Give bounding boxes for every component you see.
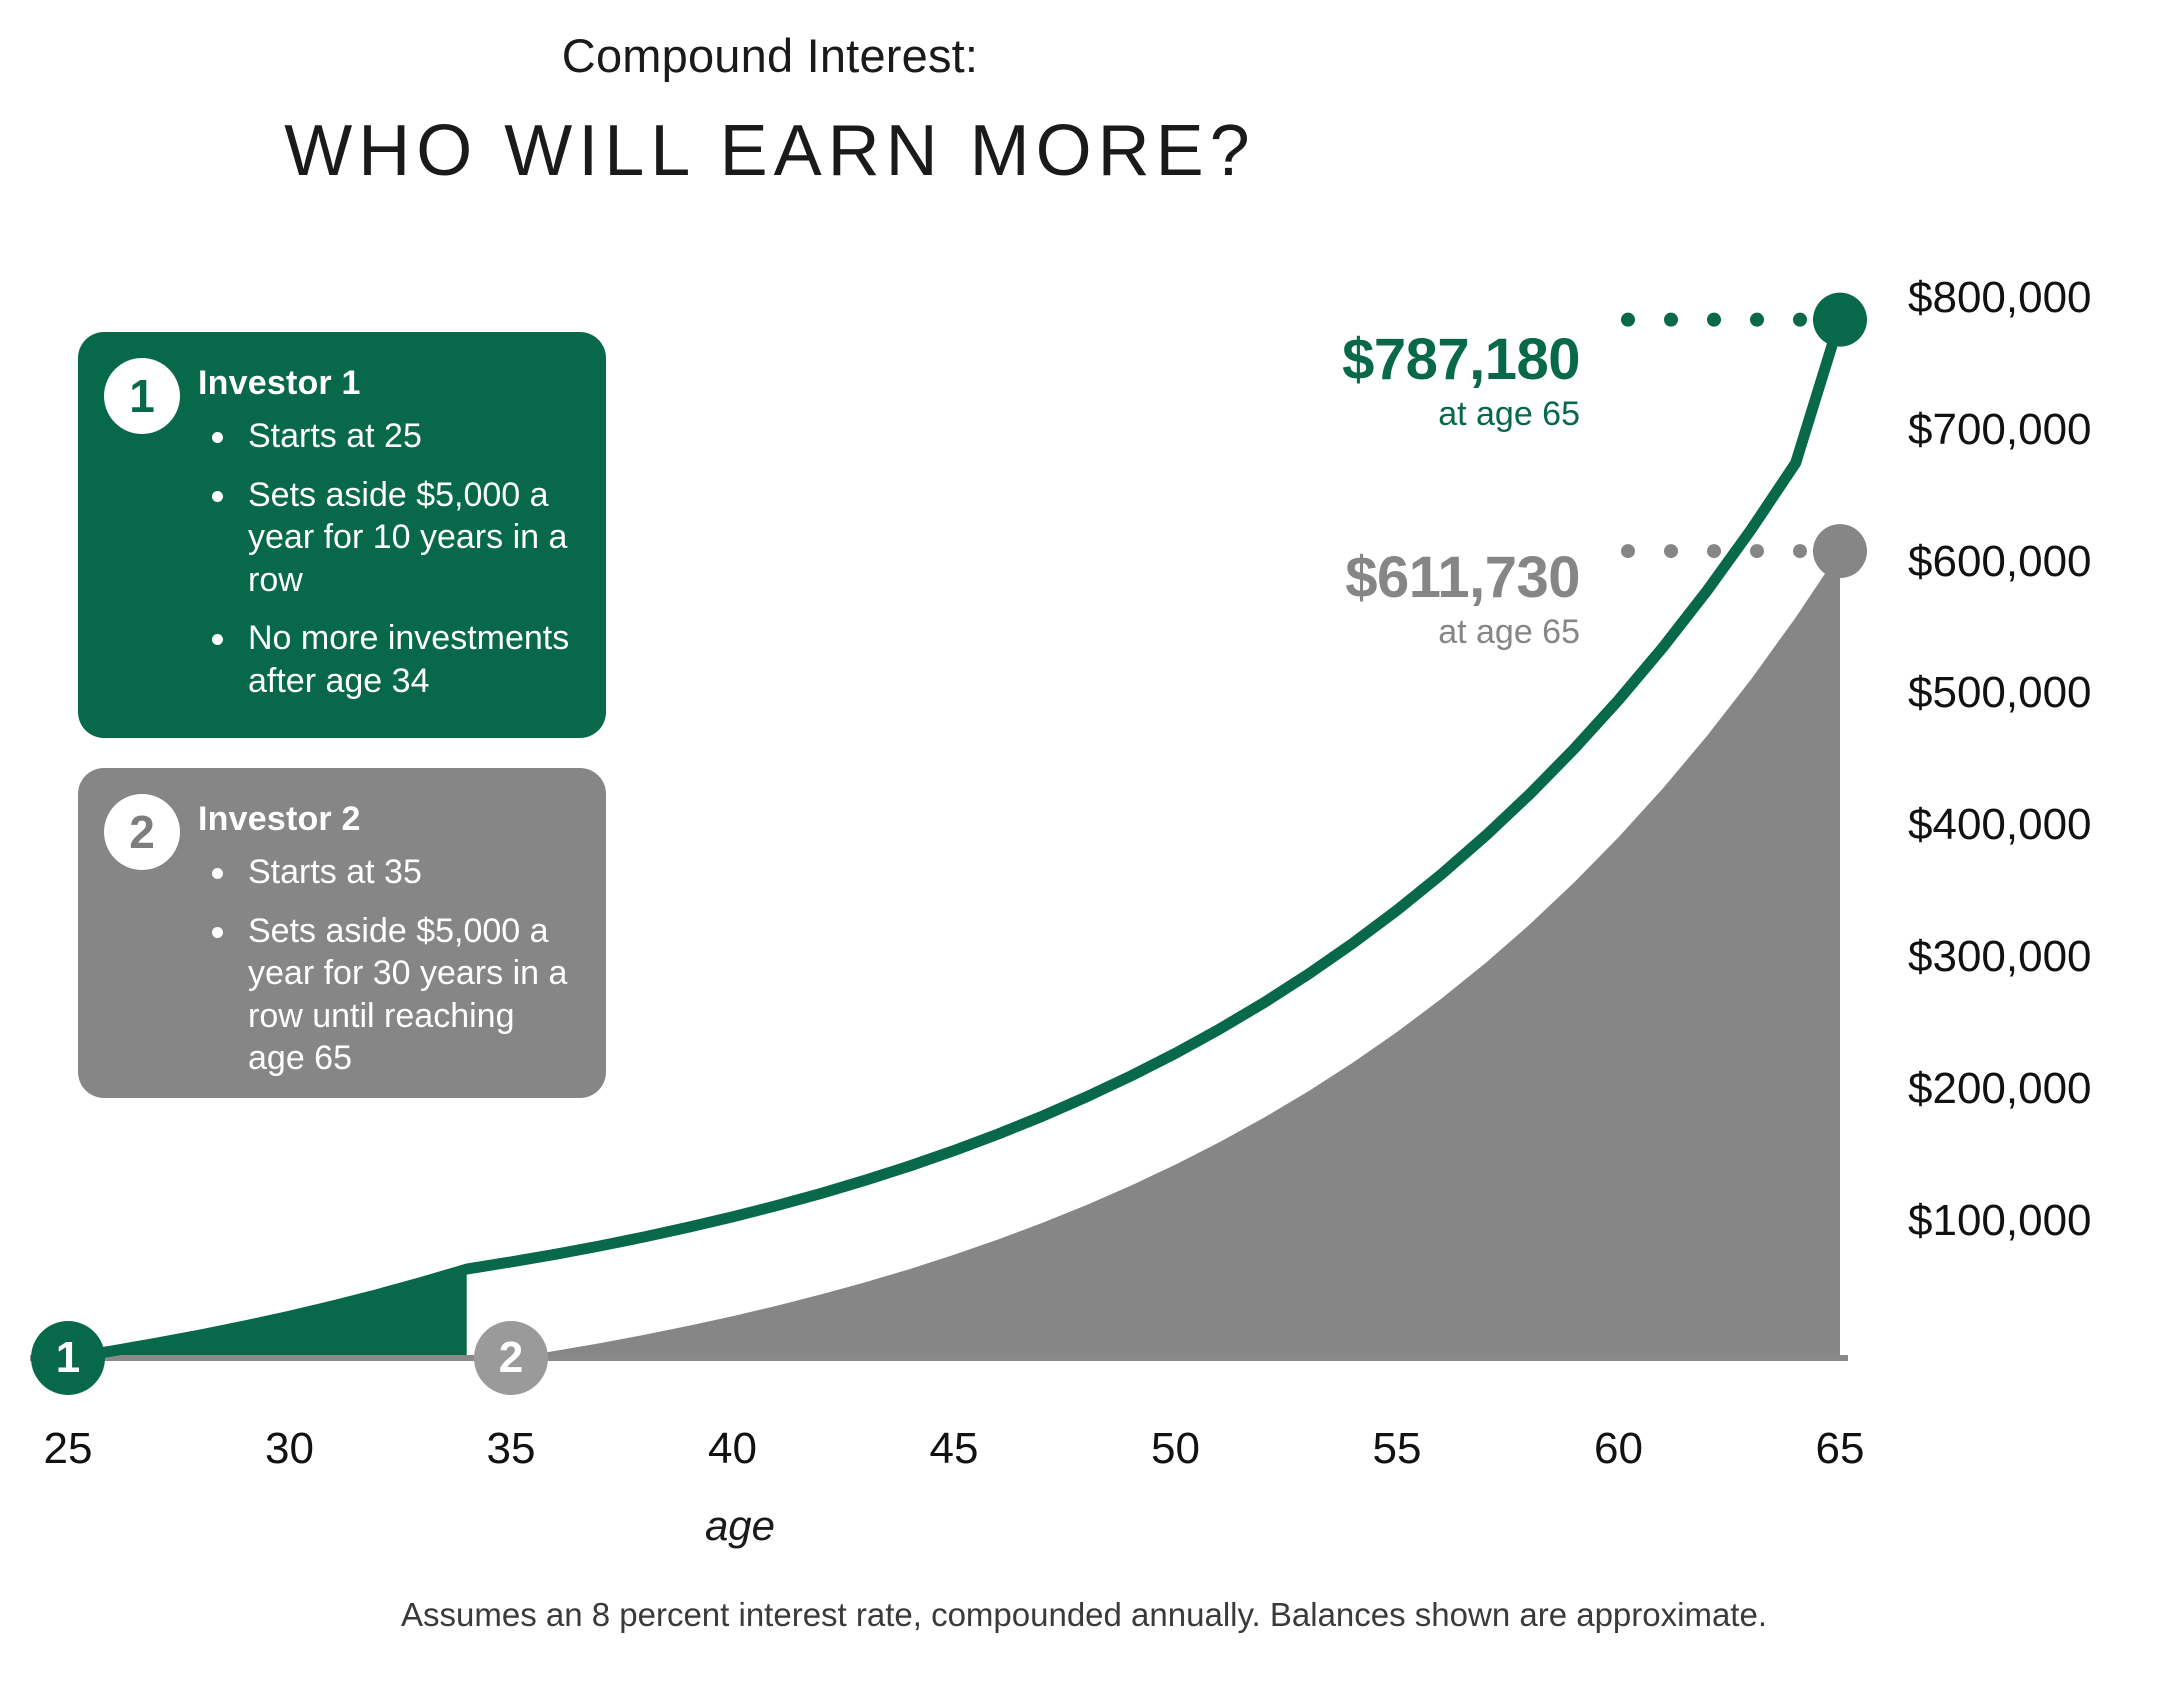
footnote: Assumes an 8 percent interest rate, comp… bbox=[0, 1596, 2168, 1634]
y-axis-tick-label: $600,000 bbox=[1908, 537, 2092, 587]
series-area-investor-2 bbox=[68, 551, 1840, 1358]
y-axis-tick-label: $700,000 bbox=[1908, 405, 2092, 455]
callout-amount: $787,180 bbox=[1180, 330, 1580, 391]
leader-dot-investor-1 bbox=[1664, 313, 1678, 327]
chart-area bbox=[0, 190, 2168, 1440]
y-axis-tick-label: $400,000 bbox=[1908, 800, 2092, 850]
series-marker-investor-1: 1 bbox=[31, 1321, 105, 1395]
leader-dot-investor-1 bbox=[1707, 313, 1721, 327]
leader-dot-investor-1 bbox=[1750, 313, 1764, 327]
y-axis-tick-label: $500,000 bbox=[1908, 668, 2092, 718]
callout-subtext: at age 65 bbox=[1180, 397, 1580, 433]
leader-dot-investor-1 bbox=[1793, 313, 1807, 327]
page-title: WHO WILL EARN MORE? bbox=[0, 110, 1540, 192]
x-axis-tick-label: 35 bbox=[451, 1424, 571, 1474]
x-axis-tick-label: 40 bbox=[673, 1424, 793, 1474]
leader-dot-investor-2 bbox=[1707, 544, 1721, 558]
x-axis-tick-label: 25 bbox=[8, 1424, 128, 1474]
leader-dot-investor-2 bbox=[1750, 544, 1764, 558]
series-marker-investor-2: 2 bbox=[474, 1321, 548, 1395]
infographic-page: Compound Interest: WHO WILL EARN MORE? 1… bbox=[0, 0, 2168, 1693]
y-axis-tick-label: $100,000 bbox=[1908, 1196, 2092, 1246]
y-axis-tick-label: $200,000 bbox=[1908, 1064, 2092, 1114]
leader-dot-investor-1 bbox=[1621, 313, 1635, 327]
x-axis-tick-label: 50 bbox=[1116, 1424, 1236, 1474]
compound-interest-line-chart bbox=[0, 190, 2168, 1440]
leader-dot-investor-2 bbox=[1664, 544, 1678, 558]
x-axis-tick-label: 55 bbox=[1337, 1424, 1457, 1474]
x-axis-title: age bbox=[0, 1502, 1480, 1550]
title-kicker: Compound Interest: bbox=[0, 28, 1540, 83]
callout-investor-1: $787,180 at age 65 bbox=[1180, 330, 1580, 433]
x-axis-tick-label: 30 bbox=[230, 1424, 350, 1474]
y-axis-tick-label: $800,000 bbox=[1908, 273, 2092, 323]
x-axis-tick-label: 65 bbox=[1780, 1424, 1900, 1474]
callout-investor-2: $611,730 at age 65 bbox=[1180, 548, 1580, 651]
y-axis-tick-label: $300,000 bbox=[1908, 932, 2092, 982]
endpoint-dot-investor-1 bbox=[1813, 293, 1867, 347]
x-axis-tick-label: 45 bbox=[894, 1424, 1014, 1474]
x-axis-tick-label: 60 bbox=[1559, 1424, 1679, 1474]
leader-dot-investor-2 bbox=[1793, 544, 1807, 558]
callout-subtext: at age 65 bbox=[1180, 615, 1580, 651]
leader-dot-investor-2 bbox=[1621, 544, 1635, 558]
endpoint-dot-investor-2 bbox=[1813, 524, 1867, 578]
callout-amount: $611,730 bbox=[1180, 548, 1580, 609]
